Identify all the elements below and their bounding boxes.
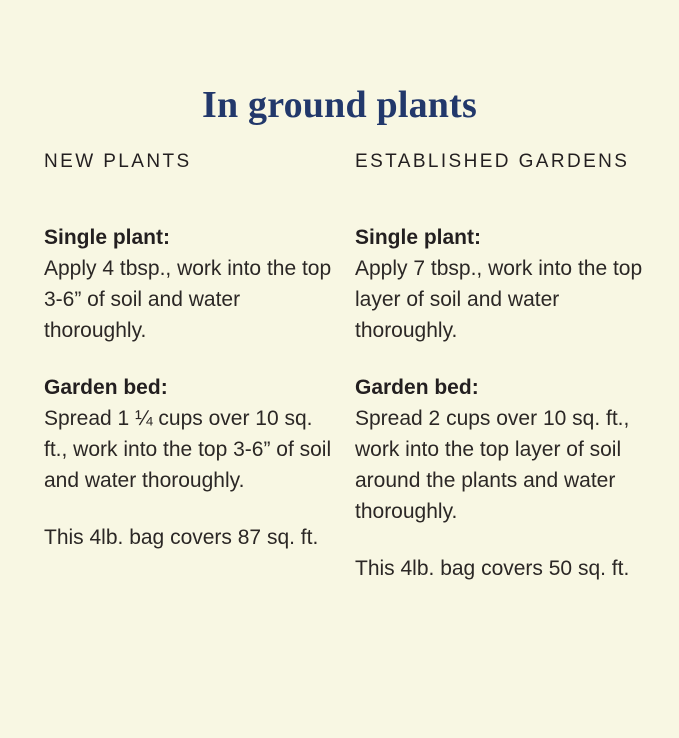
column-header-established-gardens: ESTABLISHED GARDENS: [355, 150, 645, 174]
section-heading-single-plant: Single plant:: [44, 222, 334, 253]
column-header-new-plants: NEW PLANTS: [44, 150, 334, 174]
coverage-note-new-plants: This 4lb. bag covers 87 sq. ft.: [44, 522, 334, 553]
section-garden-bed-established: Garden bed: Spread 2 cups over 10 sq. ft…: [355, 372, 645, 527]
section-body-single-plant-established: Apply 7 tbsp., work into the top layer o…: [355, 253, 645, 346]
column-new-plants: NEW PLANTS Single plant: Apply 4 tbsp., …: [44, 150, 334, 553]
coverage-note-established-gardens: This 4lb. bag covers 50 sq. ft.: [355, 553, 645, 584]
section-garden-bed: Garden bed: Spread 1 ¼ cups over 10 sq. …: [44, 372, 334, 496]
section-heading-single-plant-established: Single plant:: [355, 222, 645, 253]
section-single-plant-established: Single plant: Apply 7 tbsp., work into t…: [355, 222, 645, 346]
column-established-gardens: ESTABLISHED GARDENS Single plant: Apply …: [355, 150, 645, 584]
section-single-plant: Single plant: Apply 4 tbsp., work into t…: [44, 222, 334, 346]
instruction-panel: In ground plants NEW PLANTS Single plant…: [0, 0, 679, 738]
page-title: In ground plants: [0, 83, 679, 127]
section-heading-garden-bed-established: Garden bed:: [355, 372, 645, 403]
section-heading-garden-bed: Garden bed:: [44, 372, 334, 403]
instruction-columns: NEW PLANTS Single plant: Apply 4 tbsp., …: [44, 150, 644, 584]
section-body-garden-bed: Spread 1 ¼ cups over 10 sq. ft., work in…: [44, 403, 334, 496]
section-body-garden-bed-established: Spread 2 cups over 10 sq. ft., work into…: [355, 403, 645, 527]
section-body-single-plant: Apply 4 tbsp., work into the top 3-6” of…: [44, 253, 334, 346]
